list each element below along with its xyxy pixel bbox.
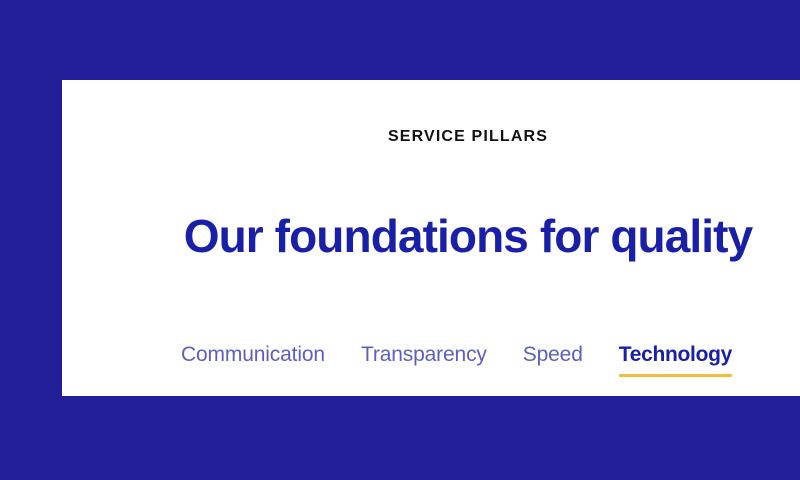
page-background: SERVICE PILLARS Our foundations for qual… [0, 0, 800, 480]
tab-transparency[interactable]: Transparency [361, 342, 487, 380]
pillar-tabs: Communication Transparency Speed Technol… [181, 342, 768, 382]
page-title: Our foundations for quality [168, 209, 768, 263]
tab-speed[interactable]: Speed [523, 342, 583, 380]
tab-communication[interactable]: Communication [181, 342, 325, 380]
content-column: SERVICE PILLARS Our foundations for qual… [168, 80, 768, 396]
tab-technology[interactable]: Technology [619, 342, 732, 380]
section-eyebrow: SERVICE PILLARS [168, 127, 768, 147]
content-card: SERVICE PILLARS Our foundations for qual… [62, 80, 800, 396]
